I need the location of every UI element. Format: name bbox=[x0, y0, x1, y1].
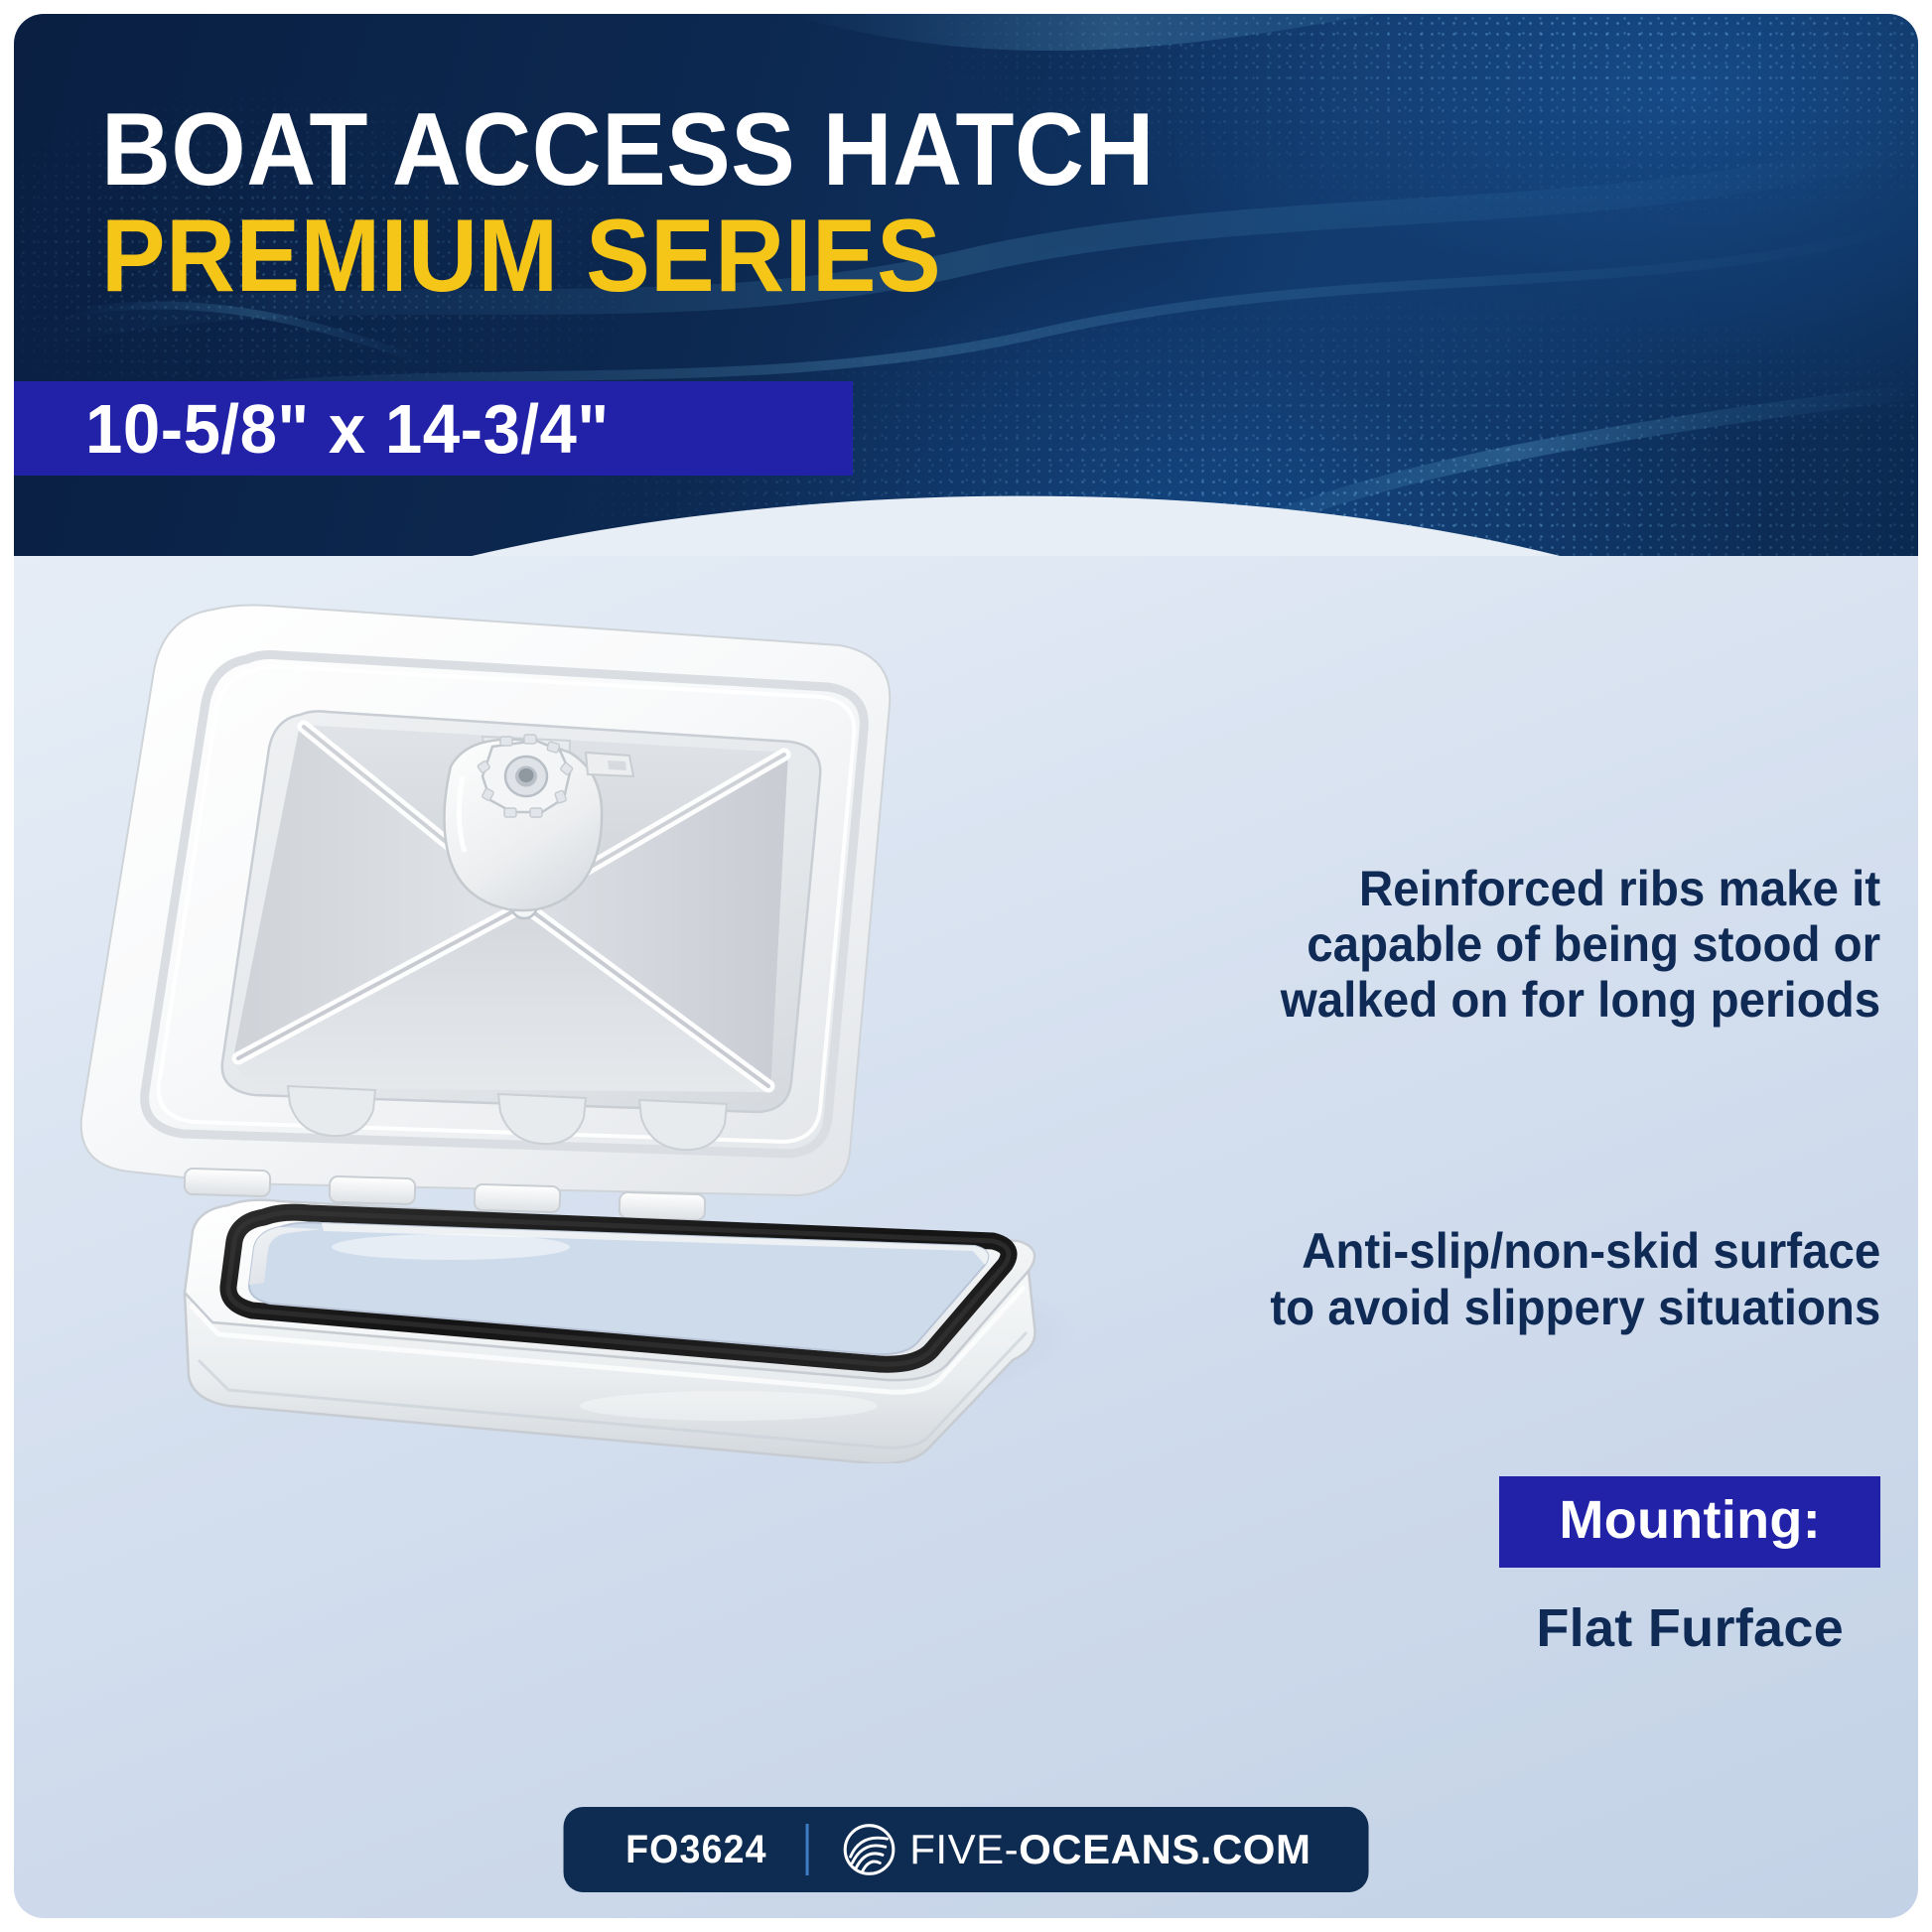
dimension-text: 10-5/8" x 14-3/4" bbox=[85, 389, 610, 469]
infographic-card: BOAT ACCESS HATCH PREMIUM SERIES 10-5/8"… bbox=[14, 14, 1918, 1918]
feature-line: capable of being stood or bbox=[1281, 916, 1880, 972]
footer-bar: FO3624 FIVE-OCEANS.COM bbox=[564, 1807, 1369, 1892]
feature-line: walked on for long periods bbox=[1281, 972, 1880, 1028]
footer-divider bbox=[805, 1824, 808, 1875]
wave-globe-icon bbox=[842, 1823, 896, 1876]
dimension-banner: 10-5/8" x 14-3/4" bbox=[14, 381, 853, 476]
mounting-label: Mounting: bbox=[1499, 1476, 1880, 1568]
title-subtitle: PREMIUM SERIES bbox=[101, 204, 1155, 310]
feature-anti-slip-surface: Anti-slip/non-skid surface to avoid slip… bbox=[1238, 1223, 1880, 1336]
hatch-base-frame bbox=[165, 1199, 1035, 1463]
brand-url-bold: OCEANS.COM bbox=[1019, 1826, 1311, 1872]
feature-reinforced-ribs: Reinforced ribs make it capable of being… bbox=[1249, 861, 1880, 1028]
hatch-lid bbox=[81, 606, 891, 1221]
page-title: BOAT ACCESS HATCH PREMIUM SERIES bbox=[101, 97, 1234, 310]
feature-line: to avoid slippery situations bbox=[1270, 1280, 1880, 1336]
feature-line: Anti-slip/non-skid surface bbox=[1270, 1223, 1880, 1280]
mounting-value: Flat Furface bbox=[1499, 1597, 1880, 1659]
product-sku: FO3624 bbox=[625, 1828, 767, 1872]
product-image-boat-access-hatch bbox=[34, 510, 1146, 1463]
mounting-info: Mounting: Flat Furface bbox=[1499, 1476, 1880, 1659]
feature-line: Reinforced ribs make it bbox=[1281, 861, 1880, 916]
brand-url-light: FIVE- bbox=[909, 1826, 1019, 1872]
title-main: BOAT ACCESS HATCH bbox=[101, 97, 1155, 204]
brand-url: FIVE-OCEANS.COM bbox=[909, 1826, 1311, 1873]
brand-lockup: FIVE-OCEANS.COM bbox=[842, 1823, 1311, 1876]
